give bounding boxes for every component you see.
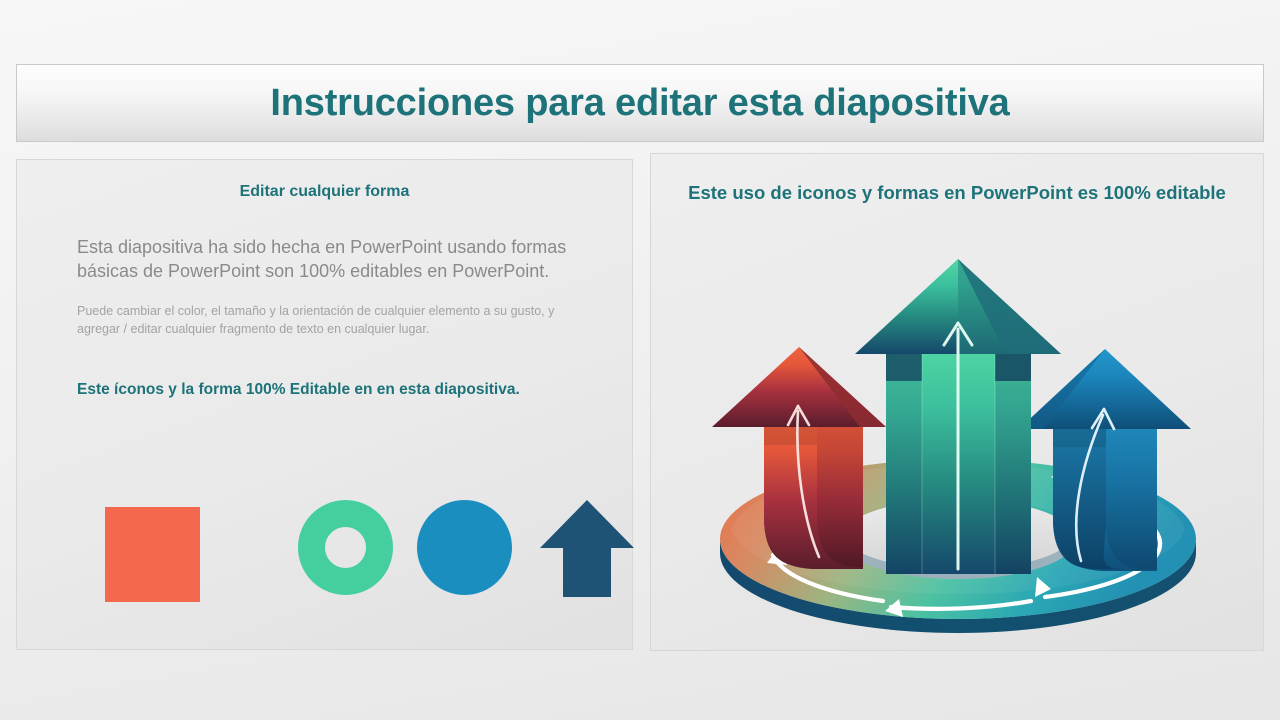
arrow-up-shape[interactable]: [537, 496, 637, 601]
slide-title-bar: Instrucciones para editar esta diapositi…: [16, 64, 1264, 142]
left-panel-heading: Editar cualquier forma: [17, 183, 632, 201]
square-shape[interactable]: [105, 507, 200, 602]
page-title: Instrucciones para editar esta diapositi…: [270, 82, 1009, 125]
left-panel-highlight-text: Este íconos y la forma 100% Editable en …: [77, 381, 607, 399]
sample-shapes-row: [89, 498, 589, 608]
left-content-panel: Editar cualquier forma Esta diapositiva …: [16, 159, 633, 650]
right-graphic-panel: Este uso de iconos y formas en PowerPoin…: [650, 153, 1264, 651]
circle-shape[interactable]: [417, 500, 512, 595]
left-panel-body-text: Esta diapositiva ha sido hecha en PowerP…: [77, 236, 587, 284]
left-panel-sub-text: Puede cambiar el color, el tamaño y la o…: [77, 302, 577, 338]
right-panel-heading: Este uso de iconos y formas en PowerPoin…: [651, 182, 1263, 204]
growth-arrows-graphic: [651, 249, 1265, 649]
donut-shape[interactable]: [298, 500, 393, 595]
